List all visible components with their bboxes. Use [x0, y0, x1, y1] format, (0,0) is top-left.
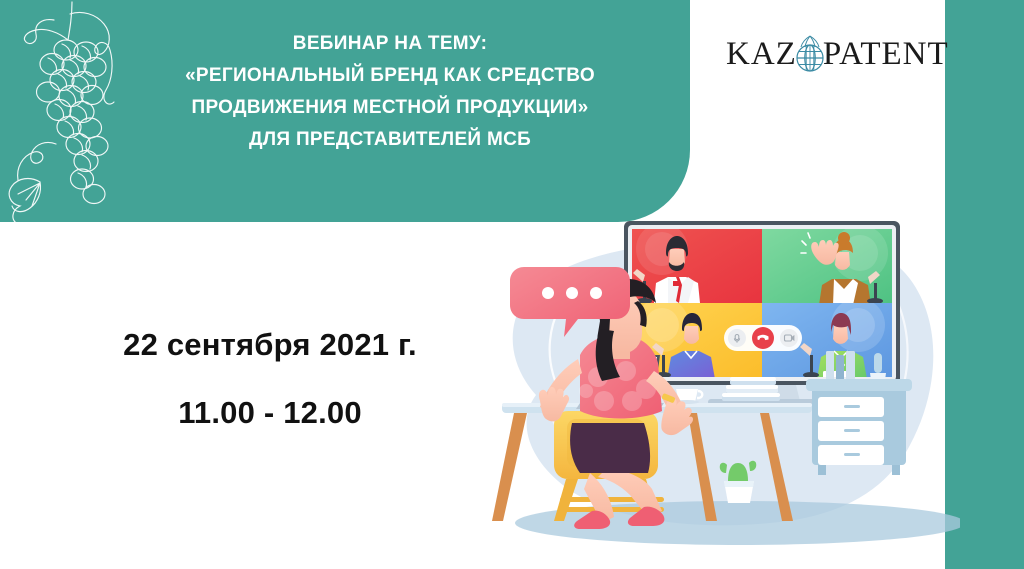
logo-text-left: KAZ: [726, 38, 797, 71]
page-title: ВЕБИНАР НА ТЕМУ: «РЕГИОНАЛЬНЫЙ БРЕНД КАК…: [110, 28, 670, 156]
camera-button[interactable]: [780, 329, 798, 347]
kazpatent-logo: KAZ PATENT: [726, 33, 949, 75]
event-time: 11.00 - 12.00: [60, 396, 480, 430]
header-band: ВЕБИНАР НА ТЕМУ: «РЕГИОНАЛЬНЫЙ БРЕНД КАК…: [0, 0, 690, 222]
stack-of-books: [722, 377, 780, 401]
dombra-globe-icon: [793, 33, 827, 73]
title-line-1: ВЕБИНАР НА ТЕМУ:: [110, 28, 670, 60]
video-conference-illustration: [440, 205, 960, 569]
title-line-2: «РЕГИОНАЛЬНЫЙ БРЕНД КАК СРЕДСТВО: [110, 60, 670, 92]
event-info: 22 сентября 2021 г. 11.00 - 12.00: [60, 328, 480, 430]
title-line-4: ДЛЯ ПРЕДСТАВИТЕЛЕЙ МСБ: [110, 124, 670, 156]
mic-button[interactable]: [728, 329, 746, 347]
webinar-announcement-banner: ВЕБИНАР НА ТЕМУ: «РЕГИОНАЛЬНЫЙ БРЕНД КАК…: [0, 0, 1024, 569]
title-line-3: ПРОДВИЖЕНИЯ МЕСТНОЙ ПРОДУКЦИИ»: [110, 92, 670, 124]
event-date: 22 сентября 2021 г.: [60, 328, 480, 362]
participant-tile-top-right: [762, 225, 892, 305]
call-controls[interactable]: [724, 325, 802, 351]
logo-text-right: PATENT: [823, 38, 949, 71]
end-call-button[interactable]: [752, 327, 774, 349]
